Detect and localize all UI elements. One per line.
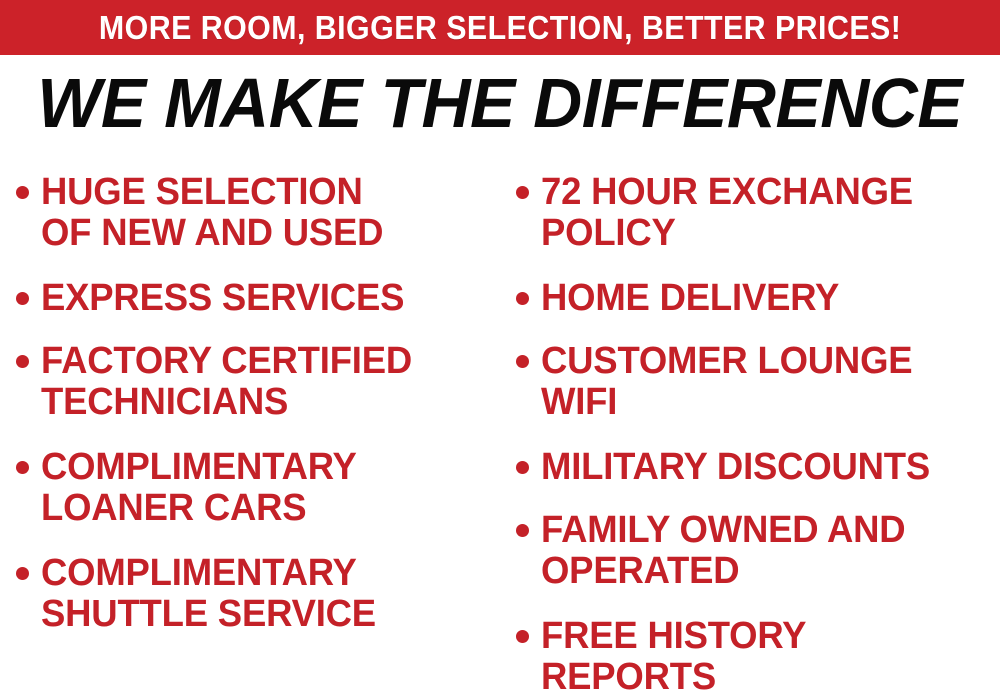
bullet-dot-icon xyxy=(516,524,529,537)
benefits-columns: HUGE SELECTION OF NEW AND USED EXPRESS S… xyxy=(0,160,1000,694)
bullet-dot-icon xyxy=(516,292,529,305)
list-item-label: COMPLIMENTARY LOANER CARS xyxy=(41,447,357,529)
list-item: HOME DELIVERY xyxy=(516,278,1000,319)
promo-banner: MORE ROOM, BIGGER SELECTION, BETTER PRIC… xyxy=(0,0,1000,55)
list-item: COMPLIMENTARY LOANER CARS xyxy=(16,447,500,529)
list-item: FAMILY OWNED AND OPERATED xyxy=(516,510,1000,592)
list-item: COMPLIMENTARY SHUTTLE SERVICE xyxy=(16,553,500,635)
list-item-label: FREE HISTORY REPORTS xyxy=(541,616,806,698)
list-item: FACTORY CERTIFIED TECHNICIANS xyxy=(16,341,500,423)
list-item-label: EXPRESS SERVICES xyxy=(41,278,404,319)
benefits-column-right: 72 HOUR EXCHANGE POLICY HOME DELIVERY CU… xyxy=(500,160,1000,694)
list-item: EXPRESS SERVICES xyxy=(16,278,500,319)
list-item: FREE HISTORY REPORTS xyxy=(516,616,1000,698)
bullet-dot-icon xyxy=(16,355,29,368)
headline: WE MAKE THE DIFFERENCE xyxy=(0,66,1000,140)
bullet-dot-icon xyxy=(516,186,529,199)
bullet-dot-icon xyxy=(516,630,529,643)
list-item-label: HUGE SELECTION OF NEW AND USED xyxy=(41,172,383,254)
list-item: 72 HOUR EXCHANGE POLICY xyxy=(516,172,1000,254)
list-item-label: COMPLIMENTARY SHUTTLE SERVICE xyxy=(41,553,376,635)
promo-banner-text: MORE ROOM, BIGGER SELECTION, BETTER PRIC… xyxy=(99,11,901,44)
list-item: MILITARY DISCOUNTS xyxy=(516,447,1000,488)
headline-text: WE MAKE THE DIFFERENCE xyxy=(38,66,963,140)
list-item-label: CUSTOMER LOUNGE WIFI xyxy=(541,341,912,423)
list-item: CUSTOMER LOUNGE WIFI xyxy=(516,341,1000,423)
list-item-label: MILITARY DISCOUNTS xyxy=(541,447,930,488)
list-item-label: HOME DELIVERY xyxy=(541,278,839,319)
bullet-dot-icon xyxy=(16,567,29,580)
list-item-label: FACTORY CERTIFIED TECHNICIANS xyxy=(41,341,412,423)
list-item-label: 72 HOUR EXCHANGE POLICY xyxy=(541,172,913,254)
bullet-dot-icon xyxy=(16,186,29,199)
bullet-dot-icon xyxy=(16,461,29,474)
bullet-dot-icon xyxy=(516,355,529,368)
list-item: HUGE SELECTION OF NEW AND USED xyxy=(16,172,500,254)
bullet-dot-icon xyxy=(16,292,29,305)
benefits-column-left: HUGE SELECTION OF NEW AND USED EXPRESS S… xyxy=(0,160,500,694)
bullet-dot-icon xyxy=(516,461,529,474)
list-item-label: FAMILY OWNED AND OPERATED xyxy=(541,510,905,592)
